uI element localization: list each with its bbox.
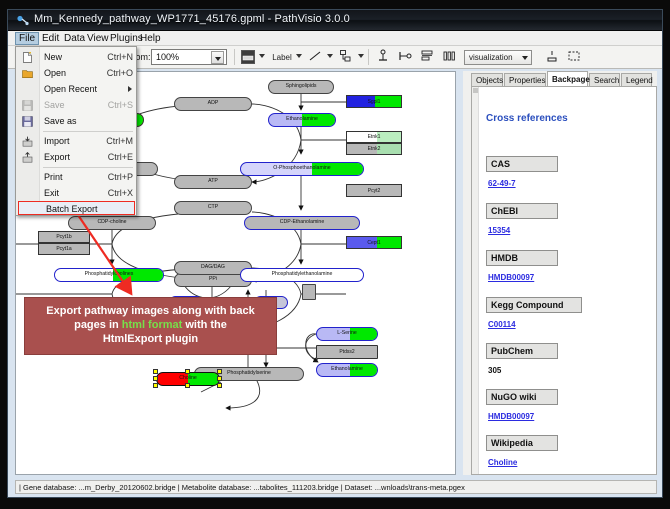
node-atp[interactable]: ATP xyxy=(174,175,252,189)
new-file-icon xyxy=(22,52,33,63)
menu-item-exit[interactable]: Exit Ctrl+X xyxy=(17,186,137,200)
menu-item-save-as[interactable]: Save as xyxy=(17,114,137,128)
gene-box-etnk2[interactable]: Etnk2 xyxy=(346,143,402,155)
xref-header-nugo: NuGO wiki xyxy=(486,389,558,405)
menu-item-batch-export[interactable]: Batch Export xyxy=(18,201,135,215)
selection-handle-n[interactable] xyxy=(185,369,190,374)
menu-item-new-label: New xyxy=(44,50,62,64)
xref-header-chebi: ChEBI xyxy=(486,203,558,219)
toolbar-separator xyxy=(368,49,369,65)
zoom-combobox[interactable]: 100% xyxy=(151,49,227,65)
callout-line-1: Export pathway images along with back xyxy=(46,305,254,317)
xref-header-wikipedia: Wikipedia xyxy=(486,435,558,451)
gene-box-ptdss2[interactable]: Ptdss2 xyxy=(316,345,378,359)
screenshot-frame: Mm_Kennedy_pathway_WP1771_45176.gpml - P… xyxy=(0,0,670,509)
tab-backpage[interactable]: Backpage xyxy=(547,71,588,86)
menu-item-export[interactable]: Export Ctrl+E xyxy=(17,150,137,164)
zoom-value: 100% xyxy=(156,52,179,62)
xref-header-cas: CAS xyxy=(486,156,558,172)
xref-value-wikipedia[interactable]: Choline xyxy=(488,458,517,467)
annotation-callout: Export pathway images along with back pa… xyxy=(24,297,277,355)
tab-legend[interactable]: Legend xyxy=(621,73,652,86)
tab-properties[interactable]: Properties xyxy=(504,73,546,86)
interaction-tool-icon[interactable] xyxy=(397,49,413,66)
selection-handle-sw[interactable] xyxy=(153,383,158,388)
tab-search[interactable]: Search xyxy=(589,73,620,86)
visualization-combobox[interactable]: visualization xyxy=(464,50,532,65)
xref-header-pubchem: PubChem xyxy=(486,343,558,359)
xref-value-cas[interactable]: 62-49-7 xyxy=(488,179,516,188)
xref-header-hmdb: HMDB xyxy=(486,250,558,266)
selection-handle-nw[interactable] xyxy=(153,369,158,374)
menu-item-open-recent[interactable]: Open Recent xyxy=(17,82,137,96)
backpage-content: Cross references CAS 62-49-7 ChEBI 15354… xyxy=(471,86,657,475)
node-cdp-choline[interactable]: CDP-choline xyxy=(68,216,156,230)
shape-tool-dropdown-arrow[interactable] xyxy=(358,54,364,58)
xref-value-hmdb[interactable]: HMDB00097 xyxy=(488,273,534,282)
selection-handle-s[interactable] xyxy=(185,383,190,388)
menu-item-print[interactable]: Print Ctrl+P xyxy=(17,170,137,184)
save-as-icon xyxy=(22,116,33,127)
gene-tool-icon[interactable] xyxy=(241,50,255,64)
menu-item-print-accel: Ctrl+P xyxy=(108,170,133,184)
side-panel: Objects Properties Backpage Search Legen… xyxy=(463,71,657,475)
menu-bar: File Edit Data View Plugins Help xyxy=(8,31,663,46)
menu-item-exit-accel: Ctrl+X xyxy=(108,186,133,200)
menu-separator xyxy=(43,131,133,132)
submenu-arrow-icon xyxy=(128,86,132,92)
node-sphingolipids[interactable]: Sphingolipids xyxy=(268,80,334,94)
callout-line-3: HtmlExport plugin xyxy=(103,333,198,345)
xref-value-nugo[interactable]: HMDB00097 xyxy=(488,412,534,421)
gene-box-pcyt2[interactable]: Pcyt2 xyxy=(346,184,402,197)
line-tool-dropdown-arrow[interactable] xyxy=(327,54,333,58)
anchor-tool-icon[interactable] xyxy=(375,49,391,66)
menu-item-new[interactable]: New Ctrl+N xyxy=(17,50,137,64)
backpage-scrollbar[interactable] xyxy=(472,87,479,475)
node-l-serine[interactable]: L-Serine xyxy=(316,327,378,341)
menu-item-open-label: Open xyxy=(44,66,66,80)
selection-handle-e[interactable] xyxy=(217,376,222,381)
gene-tool-dropdown-arrow[interactable] xyxy=(259,54,265,58)
label-tool[interactable]: Label xyxy=(270,49,294,66)
node-phosphatidylcholines[interactable]: Phosphatidylcholines xyxy=(54,268,164,282)
callout-line-2-b: with the xyxy=(182,319,227,331)
menu-item-save-label: Save xyxy=(44,98,65,112)
menu-item-open[interactable]: Open Ctrl+O xyxy=(17,66,137,80)
zoom-dropdown-arrow[interactable] xyxy=(211,51,224,64)
title-bar: Mm_Kennedy_pathway_WP1771_45176.gpml - P… xyxy=(8,10,663,31)
menu-item-export-accel: Ctrl+E xyxy=(108,150,133,164)
node-anchor-box[interactable] xyxy=(302,284,316,300)
visualization-dropdown-arrow[interactable] xyxy=(522,56,528,60)
menu-item-open-recent-label: Open Recent xyxy=(44,82,97,96)
open-folder-icon xyxy=(22,68,33,79)
menu-item-import-accel: Ctrl+M xyxy=(106,134,133,148)
selection-handle-se[interactable] xyxy=(217,383,222,388)
menu-item-save: Save Ctrl+S xyxy=(17,98,137,112)
shape-tool-icon[interactable] xyxy=(338,49,354,66)
label-tool-dropdown-arrow[interactable] xyxy=(296,54,302,58)
align-tool-icon[interactable] xyxy=(419,49,435,66)
node-adp[interactable]: ADP xyxy=(174,97,252,111)
gene-box-cept1[interactable]: Cept1 xyxy=(346,236,402,249)
xref-value-kegg[interactable]: C00114 xyxy=(488,320,516,329)
menu-item-import-label: Import xyxy=(44,134,70,148)
menu-file[interactable]: File xyxy=(15,32,39,45)
stack-tool-icon[interactable] xyxy=(544,49,560,66)
distribute-tool-icon[interactable] xyxy=(441,49,457,66)
menu-item-exit-label: Exit xyxy=(44,186,59,200)
save-icon xyxy=(22,100,33,111)
menu-item-new-accel: Ctrl+N xyxy=(107,50,133,64)
callout-highlight: html format xyxy=(122,319,183,331)
menu-item-save-accel: Ctrl+S xyxy=(108,98,133,112)
menu-item-print-label: Print xyxy=(44,170,63,184)
pathvisio-window: Mm_Kennedy_pathway_WP1771_45176.gpml - P… xyxy=(7,9,663,498)
status-bar: | Gene database: ...m_Derby_20120602.bri… xyxy=(15,480,657,494)
selection-handle-ne[interactable] xyxy=(217,369,222,374)
menu-item-batch-export-label: Batch Export xyxy=(46,202,98,216)
export-icon xyxy=(22,152,33,163)
line-tool-icon[interactable] xyxy=(307,49,323,66)
selection-handle-w[interactable] xyxy=(153,376,158,381)
import-icon xyxy=(22,136,33,147)
gene-box-sgpl1[interactable]: Sgpl1 xyxy=(346,95,402,108)
gene-box-etnk1[interactable]: Etnk1 xyxy=(346,131,402,143)
menu-item-save-as-label: Save as xyxy=(44,114,77,128)
node-phosphatidylethanolamine[interactable]: Phosphatidylethanolamine xyxy=(240,268,364,282)
callout-line-2-a: pages in xyxy=(74,319,122,331)
node-cdp-ethanolamine[interactable]: CDP-Ethanolamine xyxy=(244,216,360,230)
toolbar-separator xyxy=(234,49,235,65)
cross-references-title: Cross references xyxy=(486,113,568,124)
file-menu-dropdown: New Ctrl+N Open Ctrl+O Open Recent Save … xyxy=(15,46,137,216)
menu-item-open-accel: Ctrl+O xyxy=(107,66,133,80)
visualization-value: visualization xyxy=(469,53,513,62)
tab-objects[interactable]: Objects xyxy=(471,73,503,86)
window-title: Mm_Kennedy_pathway_WP1771_45176.gpml - P… xyxy=(34,13,350,25)
node-o-phosphoethanolamine[interactable]: O-Phosphoethanolamine xyxy=(240,162,364,176)
node-ethanolamine-bottom[interactable]: Ethanolamine xyxy=(316,363,378,377)
node-ctp[interactable]: CTP xyxy=(174,201,252,215)
group-tool-icon[interactable] xyxy=(566,49,582,66)
xref-value-chebi[interactable]: 15354 xyxy=(488,226,510,235)
xref-value-pubchem: 305 xyxy=(488,366,501,375)
menu-item-export-label: Export xyxy=(44,150,70,164)
gene-box-pcyt1b[interactable]: Pcyt1b xyxy=(38,231,90,243)
side-panel-tabs: Objects Properties Backpage Search Legen… xyxy=(471,71,657,86)
xref-header-kegg: Kegg Compound xyxy=(486,297,582,313)
gene-box-pcyt1a[interactable]: Pcyt1a xyxy=(38,243,90,255)
node-ethanolamine-top[interactable]: Ethanolamine xyxy=(268,113,336,127)
menu-separator xyxy=(43,167,133,168)
menu-item-import[interactable]: Import Ctrl+M xyxy=(17,134,137,148)
menu-help[interactable]: Help xyxy=(136,32,165,45)
pathvisio-icon xyxy=(16,14,29,27)
